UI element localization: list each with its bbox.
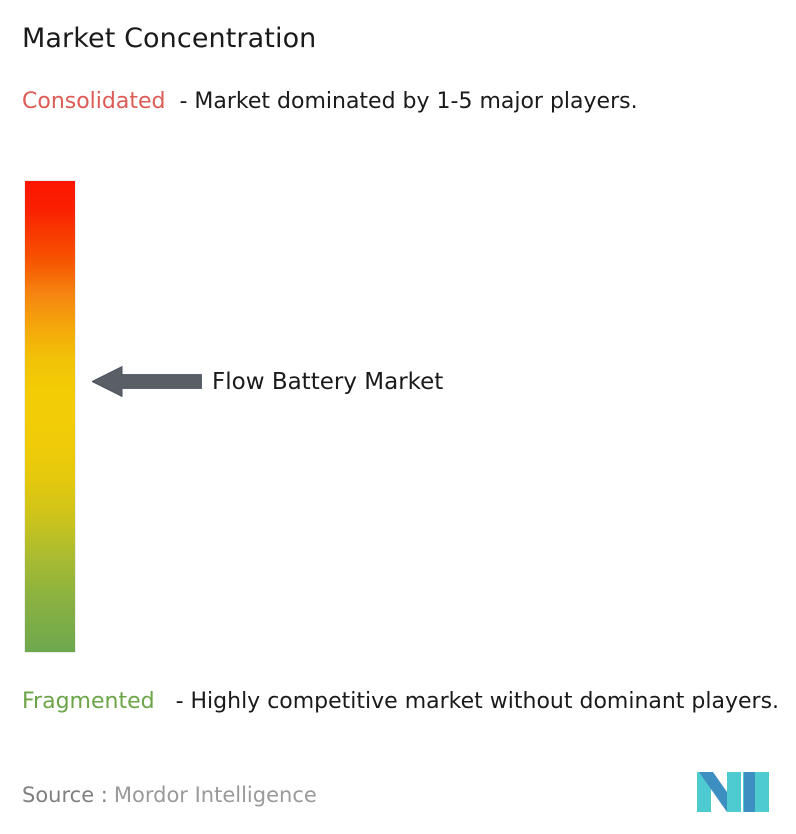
- consolidated-description: - Market dominated by 1-5 major players.: [179, 89, 637, 114]
- fragmented-term: Fragmented: [22, 689, 155, 714]
- source-value: Mordor Intelligence: [108, 783, 317, 807]
- fragmented-legend: Fragmented - Highly competitive market w…: [22, 686, 790, 718]
- consolidated-term: Consolidated: [22, 89, 165, 114]
- source-label: Source :: [22, 783, 108, 807]
- consolidated-legend: Consolidated - Market dominated by 1-5 m…: [22, 86, 774, 118]
- page-title: Market Concentration: [22, 22, 316, 56]
- source-line: Source :Mordor Intelligence: [22, 782, 317, 808]
- concentration-gradient-scale: [25, 181, 75, 652]
- market-pointer-label: Flow Battery Market: [212, 368, 443, 396]
- arrow-left-icon: [92, 366, 202, 397]
- fragmented-description: - Highly competitive market without domi…: [176, 689, 779, 714]
- mordor-intelligence-logo: [697, 768, 769, 816]
